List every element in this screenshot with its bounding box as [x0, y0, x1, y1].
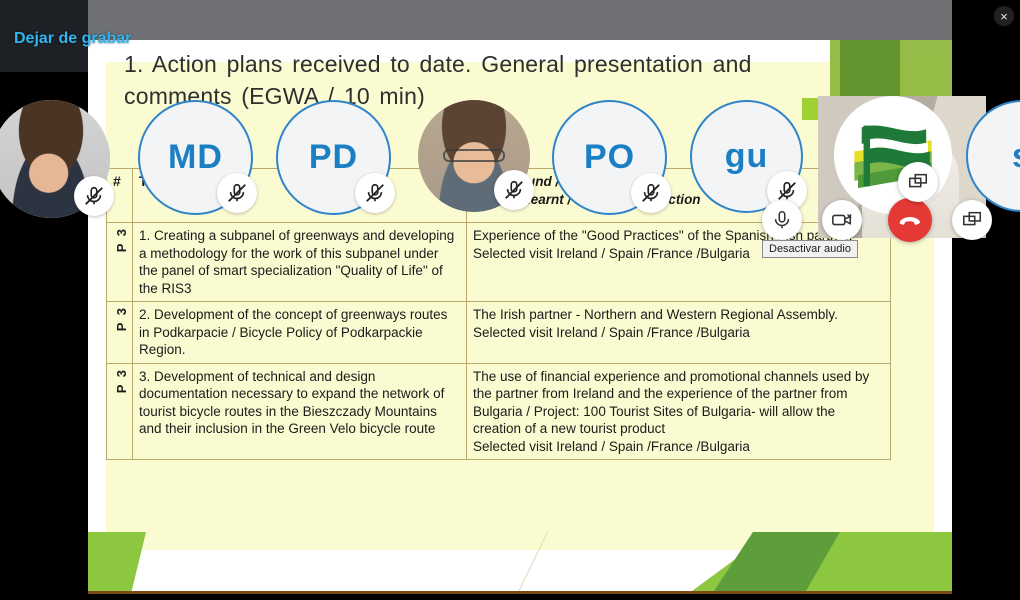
- microphone-muted-icon: [776, 180, 798, 202]
- microphone-muted-icon: [503, 179, 525, 201]
- participant-strip: MDPDPOgus: [0, 0, 1020, 240]
- row-title-cell: 3. Development of technical and design d…: [133, 363, 467, 460]
- cell-line: The use of financial experience and prom…: [473, 368, 884, 438]
- participant-initials: MD: [168, 138, 223, 177]
- slide-decoration-bottom-left: [88, 532, 146, 594]
- tooltip-desactivar-audio: Desactivar audio: [762, 240, 858, 258]
- microphone-muted-icon: [226, 182, 248, 204]
- hangup-icon: [897, 207, 923, 233]
- participant-tile-7[interactable]: [834, 96, 952, 214]
- row-background-cell: The use of financial experience and prom…: [467, 363, 891, 460]
- row-title-cell: 2. Development of the concept of greenwa…: [133, 302, 467, 364]
- mute-badge: [217, 173, 257, 213]
- screen-share-button[interactable]: [952, 200, 992, 240]
- row-marker-cell: P 3: [107, 363, 133, 460]
- participant-initials: gu: [725, 137, 769, 176]
- participant-tile-4[interactable]: [418, 100, 530, 212]
- screen-share-icon: [961, 209, 983, 231]
- row-marker: P 3: [113, 368, 131, 393]
- table-row: P 33. Development of technical and desig…: [107, 363, 891, 460]
- share-logo-button[interactable]: [898, 162, 938, 202]
- close-self-view-icon[interactable]: ×: [994, 6, 1014, 26]
- mute-badge: [74, 176, 114, 216]
- stop-recording-button[interactable]: Dejar de grabar: [14, 30, 131, 48]
- video-call-screen: 1. Action plans received to date. Genera…: [0, 0, 1020, 600]
- table-body: P 31. Creating a subpanel of greenways a…: [107, 223, 891, 460]
- microphone-button[interactable]: [762, 200, 802, 240]
- microphone-muted-icon: [83, 185, 105, 207]
- screen-share-icon: [907, 171, 929, 193]
- row-marker-cell: P 3: [107, 302, 133, 364]
- mute-badge: [494, 170, 534, 210]
- hangup-button[interactable]: [888, 198, 932, 242]
- row-background-cell: The Irish partner - Northern and Western…: [467, 302, 891, 364]
- camera-off-icon: [831, 209, 853, 231]
- participant-initials: s: [1012, 137, 1020, 176]
- cell-line: Selected visit Ireland / Spain /France /…: [473, 438, 884, 456]
- participant-tile-gu[interactable]: gu: [690, 100, 803, 213]
- microphone-icon: [771, 209, 793, 231]
- app-bottom-gutter: [0, 594, 1020, 600]
- microphone-muted-icon: [364, 182, 386, 204]
- participant-avatar: [834, 96, 952, 214]
- participant-tile-1[interactable]: [0, 100, 110, 218]
- participant-initials: PD: [309, 138, 358, 177]
- camera-off-button[interactable]: [822, 200, 862, 240]
- participant-avatar: s: [966, 100, 1020, 212]
- participant-tile-md[interactable]: MD: [138, 100, 253, 215]
- cell-line: The Irish partner - Northern and Western…: [473, 306, 884, 324]
- participant-tile-po[interactable]: PO: [552, 100, 667, 215]
- participant-tile-s[interactable]: s: [966, 100, 1020, 212]
- cell-line: Selected visit Ireland / Spain /France /…: [473, 324, 884, 342]
- participant-tile-pd[interactable]: PD: [276, 100, 391, 215]
- microphone-muted-icon: [640, 182, 662, 204]
- participant-initials: PO: [584, 138, 635, 177]
- mute-badge: [631, 173, 671, 213]
- table-row: P 32. Development of the concept of gree…: [107, 302, 891, 364]
- mute-badge: [355, 173, 395, 213]
- glasses: [443, 149, 506, 161]
- row-marker: P 3: [113, 306, 131, 331]
